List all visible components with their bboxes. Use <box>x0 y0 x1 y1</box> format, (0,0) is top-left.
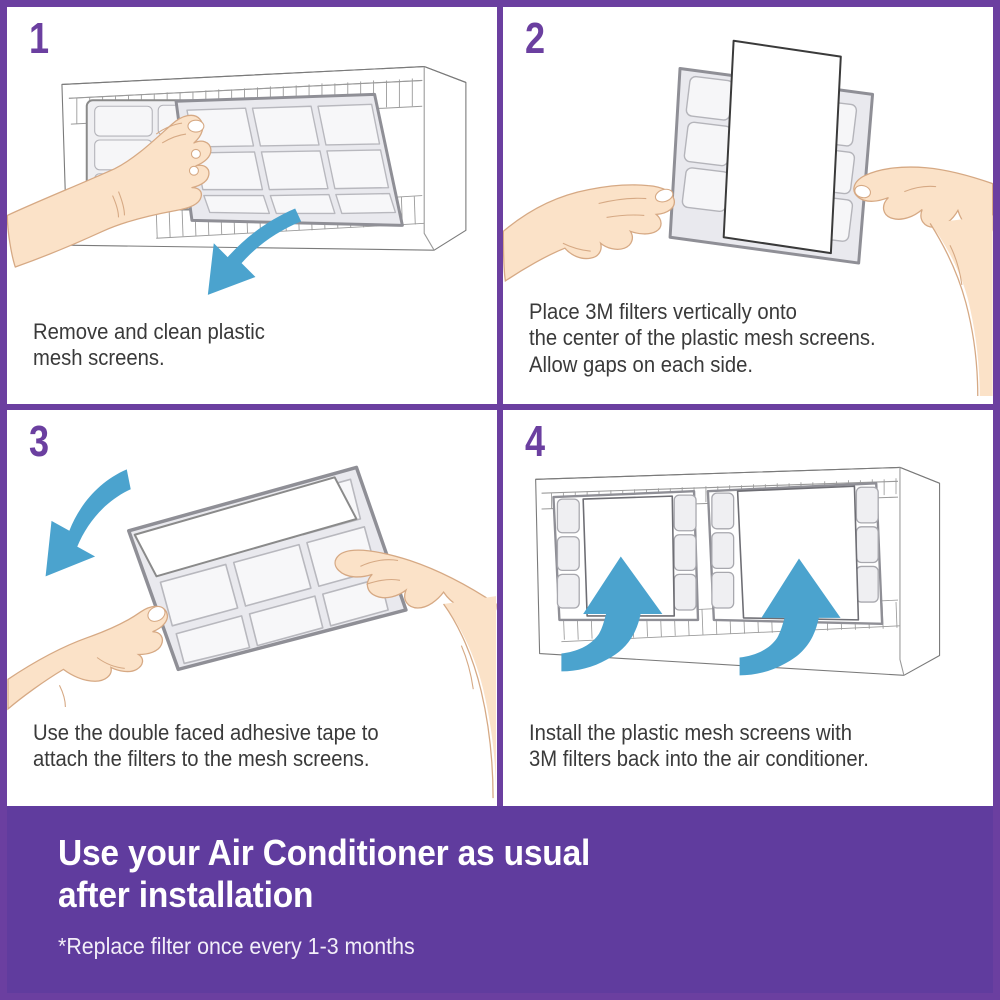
step-number-4: 4 <box>525 420 544 464</box>
step-number-1: 1 <box>29 17 48 61</box>
banner-note: *Replace filter once every 1-3 months <box>58 933 928 961</box>
step-panel-2: 2 <box>500 7 993 407</box>
step-panel-1: 1 <box>7 7 500 407</box>
step-number-3: 3 <box>29 420 48 464</box>
step-caption-3: Use the double faced adhesive tape to at… <box>33 720 438 773</box>
step-caption-1: Remove and clean plastic mesh screens. <box>33 319 438 372</box>
step-panel-3: 3 <box>7 407 500 806</box>
instruction-poster: 1 <box>0 0 1000 1000</box>
step-caption-2: Place 3M filters vertically onto the cen… <box>529 299 934 378</box>
step-panel-4: 4 <box>500 407 993 806</box>
banner-headline: Use your Air Conditioner as usual after … <box>58 832 928 917</box>
steps-grid: 1 <box>7 7 993 806</box>
blue-arrow-curved-down-left <box>46 469 131 576</box>
step-number-2: 2 <box>525 17 544 61</box>
bottom-banner: Use your Air Conditioner as usual after … <box>7 806 993 993</box>
step-caption-4: Install the plastic mesh screens with 3M… <box>529 720 934 773</box>
